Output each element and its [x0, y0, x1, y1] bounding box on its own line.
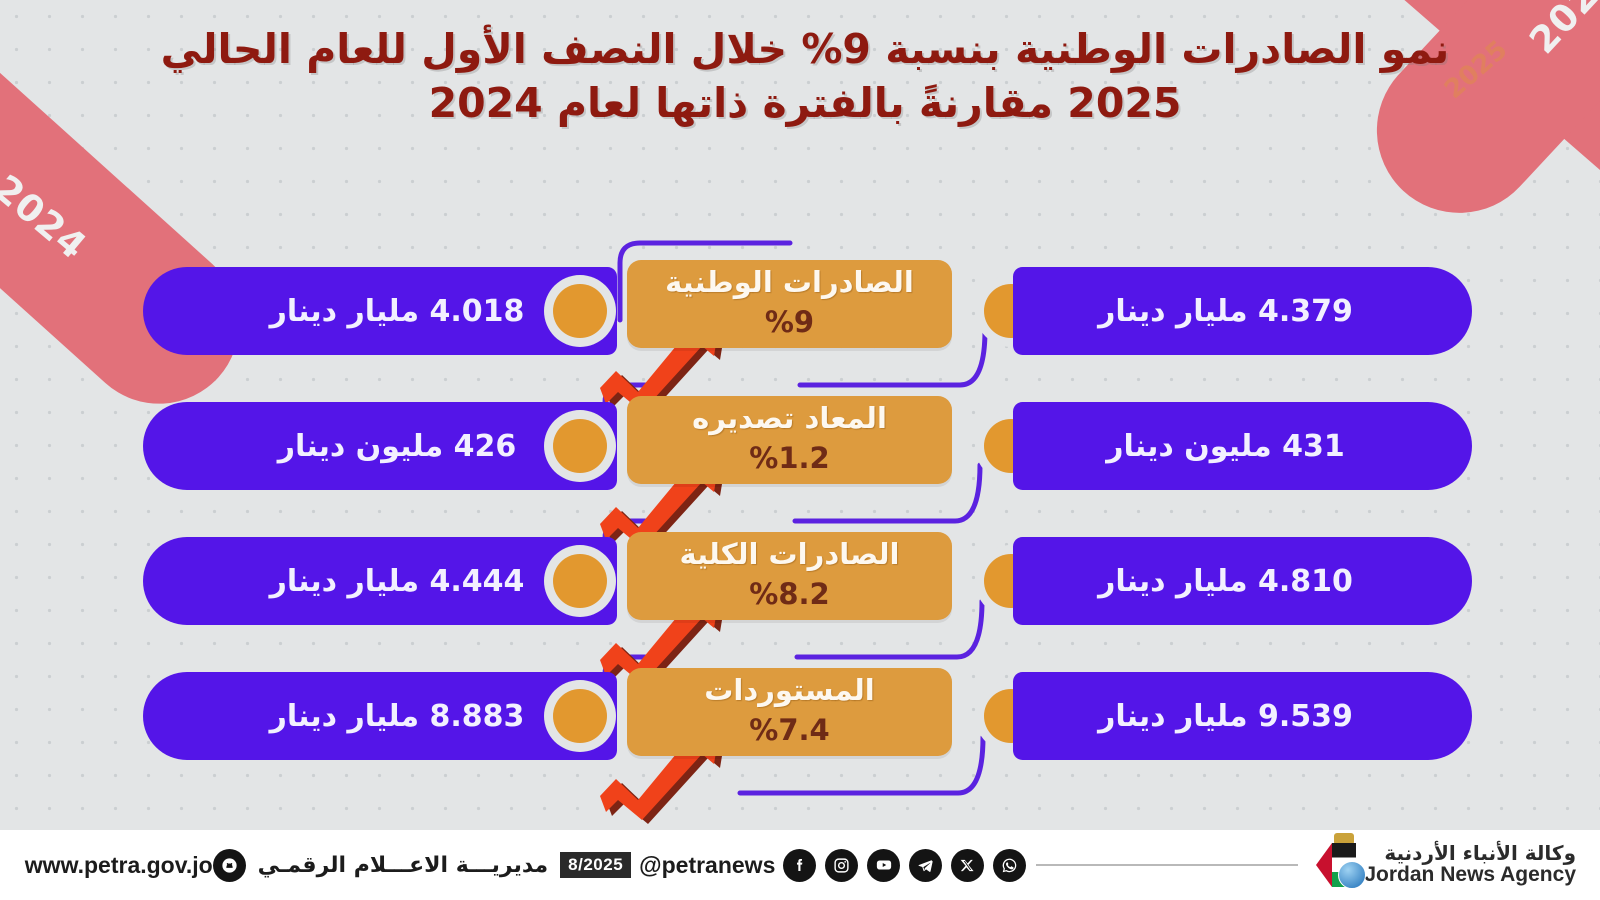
footer-bar: وكالة الأنباء الأردنية Jordan News Agenc…	[0, 830, 1600, 900]
social-links	[783, 849, 1026, 882]
publish-date-badge: 8/2025	[560, 852, 631, 878]
department-name: مديريـــة الاعـــلام الرقمـي	[258, 853, 549, 878]
category-card: المستوردات %7.4	[627, 668, 952, 756]
connector-knob-left	[553, 284, 607, 338]
youtube-icon[interactable]	[867, 849, 900, 882]
growth-percent: %1.2	[627, 441, 952, 475]
connector-knob-left	[553, 689, 607, 743]
infographic-canvas: 2024 2025 2025 نمو الصادرات الوطنية بنسب…	[0, 0, 1600, 900]
x-icon[interactable]	[951, 849, 984, 882]
agency-name-english: Jordan News Agency	[1364, 864, 1576, 886]
value-2025: 4.810 مليار دينار	[1013, 537, 1472, 625]
value-2025: 431 مليون دينار	[1013, 402, 1472, 490]
growth-percent: %8.2	[627, 577, 952, 611]
petra-mark-icon	[213, 849, 246, 882]
year-label-2024: 2024	[0, 166, 95, 268]
footer-divider	[1036, 864, 1298, 866]
category-card: الصادرات الوطنية %9	[627, 260, 952, 348]
growth-percent: %7.4	[627, 713, 952, 747]
instagram-icon[interactable]	[825, 849, 858, 882]
telegram-icon[interactable]	[909, 849, 942, 882]
value-2025: 9.539 مليار دينار	[1013, 672, 1472, 760]
social-handle: @petranews	[639, 852, 775, 879]
category-label: الصادرات الوطنية	[627, 265, 952, 299]
value-2025: 4.379 مليار دينار	[1013, 267, 1472, 355]
agency-logo: وكالة الأنباء الأردنية Jordan News Agenc…	[1314, 839, 1582, 891]
year-label-2025: 2025	[1521, 0, 1600, 62]
jordan-flag-icon	[1314, 839, 1360, 891]
connector-knob-left	[553, 554, 607, 608]
globe-icon	[1338, 861, 1366, 889]
agency-name-arabic: وكالة الأنباء الأردنية	[1364, 843, 1576, 864]
growth-percent: %9	[627, 305, 952, 339]
category-label: المستوردات	[627, 673, 952, 707]
website-url: www.petra.gov.jo	[25, 852, 213, 879]
category-label: المعاد تصديره	[627, 401, 952, 435]
category-card: المعاد تصديره %1.2	[627, 396, 952, 484]
category-label: الصادرات الكلية	[627, 537, 952, 571]
page-title: نمو الصادرات الوطنية بنسبة 9% خلال النصف…	[140, 22, 1470, 130]
whatsapp-icon[interactable]	[993, 849, 1026, 882]
category-card: الصادرات الكلية %8.2	[627, 532, 952, 620]
connector-knob-left	[553, 419, 607, 473]
facebook-icon[interactable]	[783, 849, 816, 882]
